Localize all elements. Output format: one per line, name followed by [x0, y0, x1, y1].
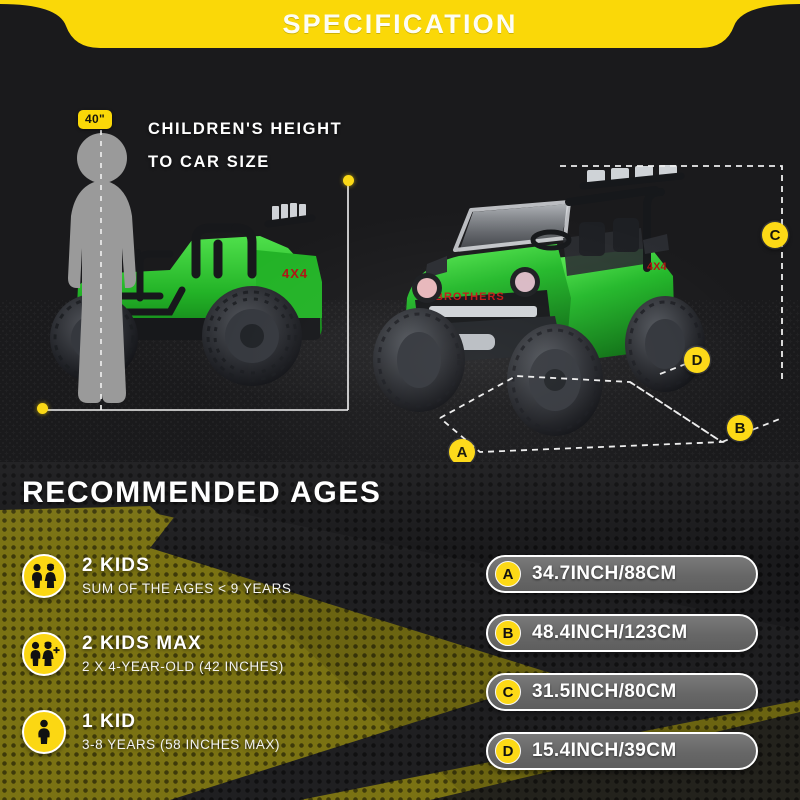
- recommended-ages-panel: RECOMMENDED AGES 2 KIDS SUM OF THE AGES …: [0, 462, 800, 800]
- photo-marker-d: D: [684, 347, 710, 373]
- height-caption-line1: CHILDREN'S HEIGHT: [148, 120, 342, 139]
- specification-infographic: 4X4: [0, 0, 800, 800]
- photo-marker-b: B: [727, 415, 753, 441]
- pill-value-d: 15.4INCH/39CM: [532, 740, 677, 762]
- pill-value-b: 48.4INCH/123CM: [532, 622, 688, 644]
- age-title: 2 KIDS: [82, 555, 291, 577]
- recommended-ages-title: RECOMMENDED AGES: [22, 476, 382, 510]
- height-badge: 40": [78, 110, 112, 129]
- dimension-pill-c: C 31.5INCH/80CM: [486, 673, 758, 711]
- pill-value-c: 31.5INCH/80CM: [532, 681, 677, 703]
- product-photo-panel: 4X4: [0, 0, 800, 462]
- age-title: 2 KIDS MAX: [82, 633, 284, 655]
- header-banner: SPECIFICATION: [0, 0, 800, 56]
- dimension-pill-d: D 15.4INCH/39CM: [486, 732, 758, 770]
- age-row-one-kid: 1 KID 3-8 YEARS (58 INCHES MAX): [22, 710, 280, 754]
- pill-letter-b: B: [495, 620, 521, 646]
- two-kids-icon: [22, 554, 66, 598]
- one-kid-icon: [22, 710, 66, 754]
- pill-value-a: 34.7INCH/88CM: [532, 563, 677, 585]
- age-subtitle: 2 X 4-YEAR-OLD (42 INCHES): [82, 659, 284, 675]
- dimension-pill-a: A 34.7INCH/88CM: [486, 555, 758, 593]
- age-row-two-kids-max: 2 KIDS MAX 2 X 4-YEAR-OLD (42 INCHES): [22, 632, 284, 676]
- side-view-measure-bracket: [30, 170, 360, 420]
- pill-letter-a: A: [495, 561, 521, 587]
- pill-letter-c: C: [495, 679, 521, 705]
- bracket-dot-left: [37, 403, 48, 414]
- two-kids-max-icon: [22, 632, 66, 676]
- age-subtitle: SUM OF THE AGES < 9 YEARS: [82, 581, 291, 597]
- pill-letter-d: D: [495, 738, 521, 764]
- dimension-pill-b: B 48.4INCH/123CM: [486, 614, 758, 652]
- photo-marker-c: C: [762, 222, 788, 248]
- page-title: SPECIFICATION: [0, 0, 800, 48]
- age-subtitle: 3-8 YEARS (58 INCHES MAX): [82, 737, 280, 753]
- age-row-two-kids: 2 KIDS SUM OF THE AGES < 9 YEARS: [22, 554, 291, 598]
- age-title: 1 KID: [82, 711, 280, 733]
